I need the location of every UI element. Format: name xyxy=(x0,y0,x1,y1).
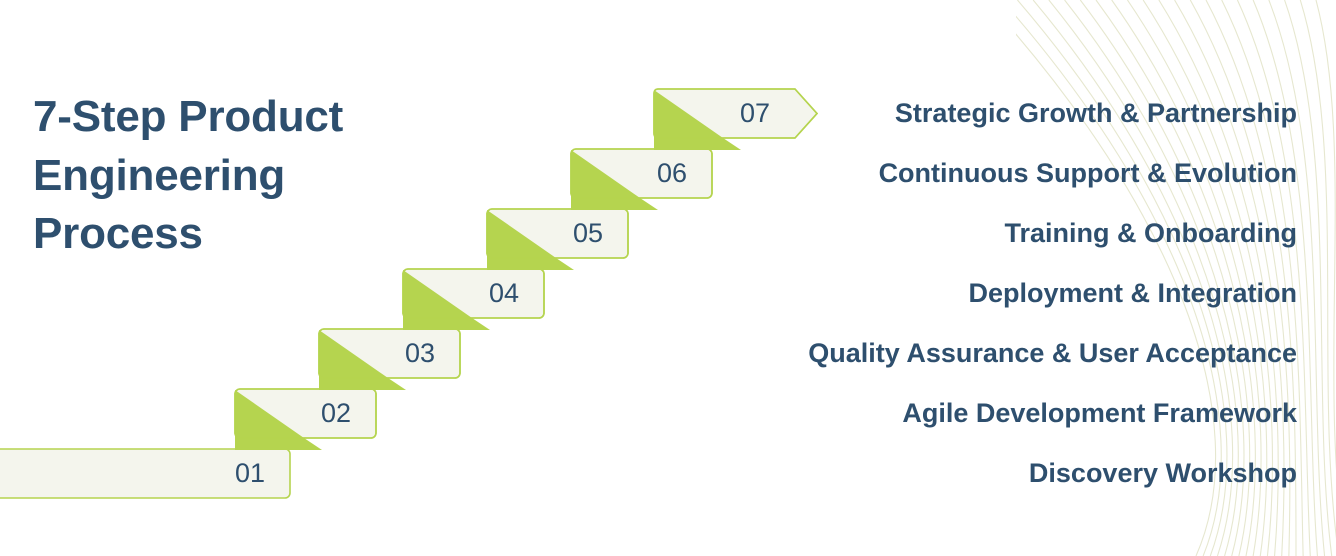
process-step-03[interactable]: 03 xyxy=(318,328,460,390)
step-label-05: Training & Onboarding xyxy=(1005,208,1298,258)
step-label-01: Discovery Workshop xyxy=(1029,448,1297,498)
step-number-07: 07 xyxy=(725,88,785,138)
step-label-04: Deployment & Integration xyxy=(968,268,1297,318)
step-label-06: Continuous Support & Evolution xyxy=(879,148,1297,198)
step-label-03: Quality Assurance & User Acceptance xyxy=(808,328,1297,378)
process-step-05[interactable]: 05 xyxy=(486,208,628,270)
process-step-07[interactable]: 07 xyxy=(653,88,817,150)
process-step-01[interactable]: 01 xyxy=(0,448,290,510)
process-step-04[interactable]: 04 xyxy=(402,268,544,330)
step-label-07: Strategic Growth & Partnership xyxy=(895,88,1297,138)
step-number-03: 03 xyxy=(390,328,450,378)
infographic-canvas: 7-Step Product Engineering Process 01Dis… xyxy=(0,0,1336,556)
process-step-06[interactable]: 06 xyxy=(570,148,712,210)
process-staircase: 01Discovery Workshop02Agile Development … xyxy=(0,0,1336,556)
step-number-06: 06 xyxy=(642,148,702,198)
step-label-02: Agile Development Framework xyxy=(902,388,1297,438)
step-number-02: 02 xyxy=(306,388,366,438)
process-step-02[interactable]: 02 xyxy=(234,388,376,450)
step-number-04: 04 xyxy=(474,268,534,318)
step-number-05: 05 xyxy=(558,208,618,258)
step-number-01: 01 xyxy=(220,448,280,498)
